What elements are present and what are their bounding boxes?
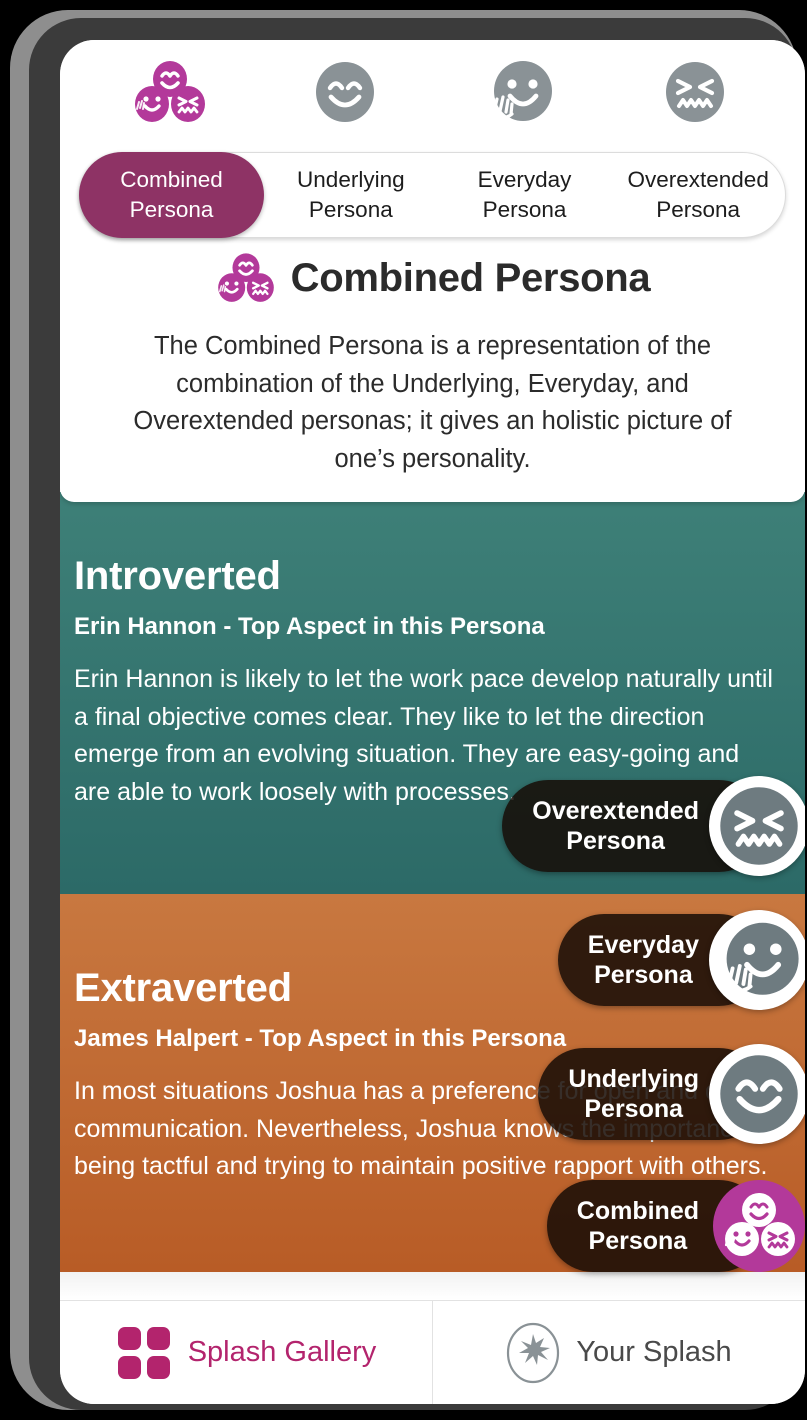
tab-label-line1: CombinedPersona <box>81 165 262 225</box>
persona-icon-row <box>60 40 805 132</box>
page-title-row: Combined Persona <box>60 252 805 304</box>
persona-header-card: CombinedPersona UnderlyingPersona Everyd… <box>60 40 805 502</box>
fab-underlying-persona[interactable]: UnderlyingPersona <box>538 1048 805 1140</box>
bottom-nav: Splash Gallery Your Splash <box>60 1300 805 1404</box>
nav-gap-band <box>60 1272 805 1300</box>
tab-label: OverextendedPersona <box>628 167 769 222</box>
fab-icon-wrap <box>709 1044 805 1144</box>
grid-squares-icon <box>116 1325 172 1381</box>
fab-everyday-persona[interactable]: EverydayPersona <box>558 914 805 1006</box>
fab-icon-wrap <box>709 776 805 876</box>
combined-persona-icon <box>215 252 277 304</box>
distressed-face-icon <box>719 786 799 866</box>
tab-label: EverydayPersona <box>478 167 572 222</box>
smiling-closed-eyes-icon <box>719 1054 799 1134</box>
fab-icon-wrap <box>709 1176 805 1276</box>
persona-description: The Combined Persona is a representation… <box>110 328 755 478</box>
combined-persona-icon <box>709 1176 805 1276</box>
nav-item-splash-gallery[interactable]: Splash Gallery <box>60 1301 432 1404</box>
nav-label: Your Splash <box>576 1336 731 1369</box>
nav-label: Splash Gallery <box>188 1336 377 1369</box>
persona-icon-underlying[interactable] <box>257 56 432 128</box>
section-subheading: Erin Hannon - Top Aspect in this Persona <box>74 613 777 641</box>
phone-screen: CombinedPersona UnderlyingPersona Everyd… <box>60 40 805 1404</box>
waving-smiley-icon <box>717 920 801 1000</box>
fab-combined-persona[interactable]: CombinedPersona <box>547 1180 805 1272</box>
persona-tabbar: CombinedPersona UnderlyingPersona Everyd… <box>79 152 786 238</box>
tab-underlying-persona[interactable]: UnderlyingPersona <box>264 165 438 225</box>
persona-icon-everyday[interactable] <box>433 56 608 128</box>
splat-circle-icon <box>506 1322 560 1384</box>
phone-bezel: CombinedPersona UnderlyingPersona Everyd… <box>29 18 797 1410</box>
distressed-face-icon <box>664 61 726 123</box>
fab-icon-wrap <box>709 910 805 1010</box>
persona-icon-combined[interactable] <box>82 56 257 128</box>
combined-persona-icon <box>131 61 209 123</box>
tab-everyday-persona[interactable]: EverydayPersona <box>438 165 612 225</box>
page-title: Combined Persona <box>291 256 651 301</box>
tab-overextended-persona[interactable]: OverextendedPersona <box>611 165 785 225</box>
phone-outer-shell: CombinedPersona UnderlyingPersona Everyd… <box>10 10 797 1410</box>
nav-item-your-splash[interactable]: Your Splash <box>432 1301 805 1404</box>
persona-icon-overextended[interactable] <box>608 56 783 128</box>
tab-label: UnderlyingPersona <box>297 167 405 222</box>
tab-combined-persona[interactable]: CombinedPersona <box>79 152 264 238</box>
smiling-closed-eyes-icon <box>314 61 376 123</box>
waving-smiley-icon <box>485 60 555 124</box>
fab-overextended-persona[interactable]: OverextendedPersona <box>502 780 805 872</box>
section-heading: Introverted <box>74 554 777 599</box>
